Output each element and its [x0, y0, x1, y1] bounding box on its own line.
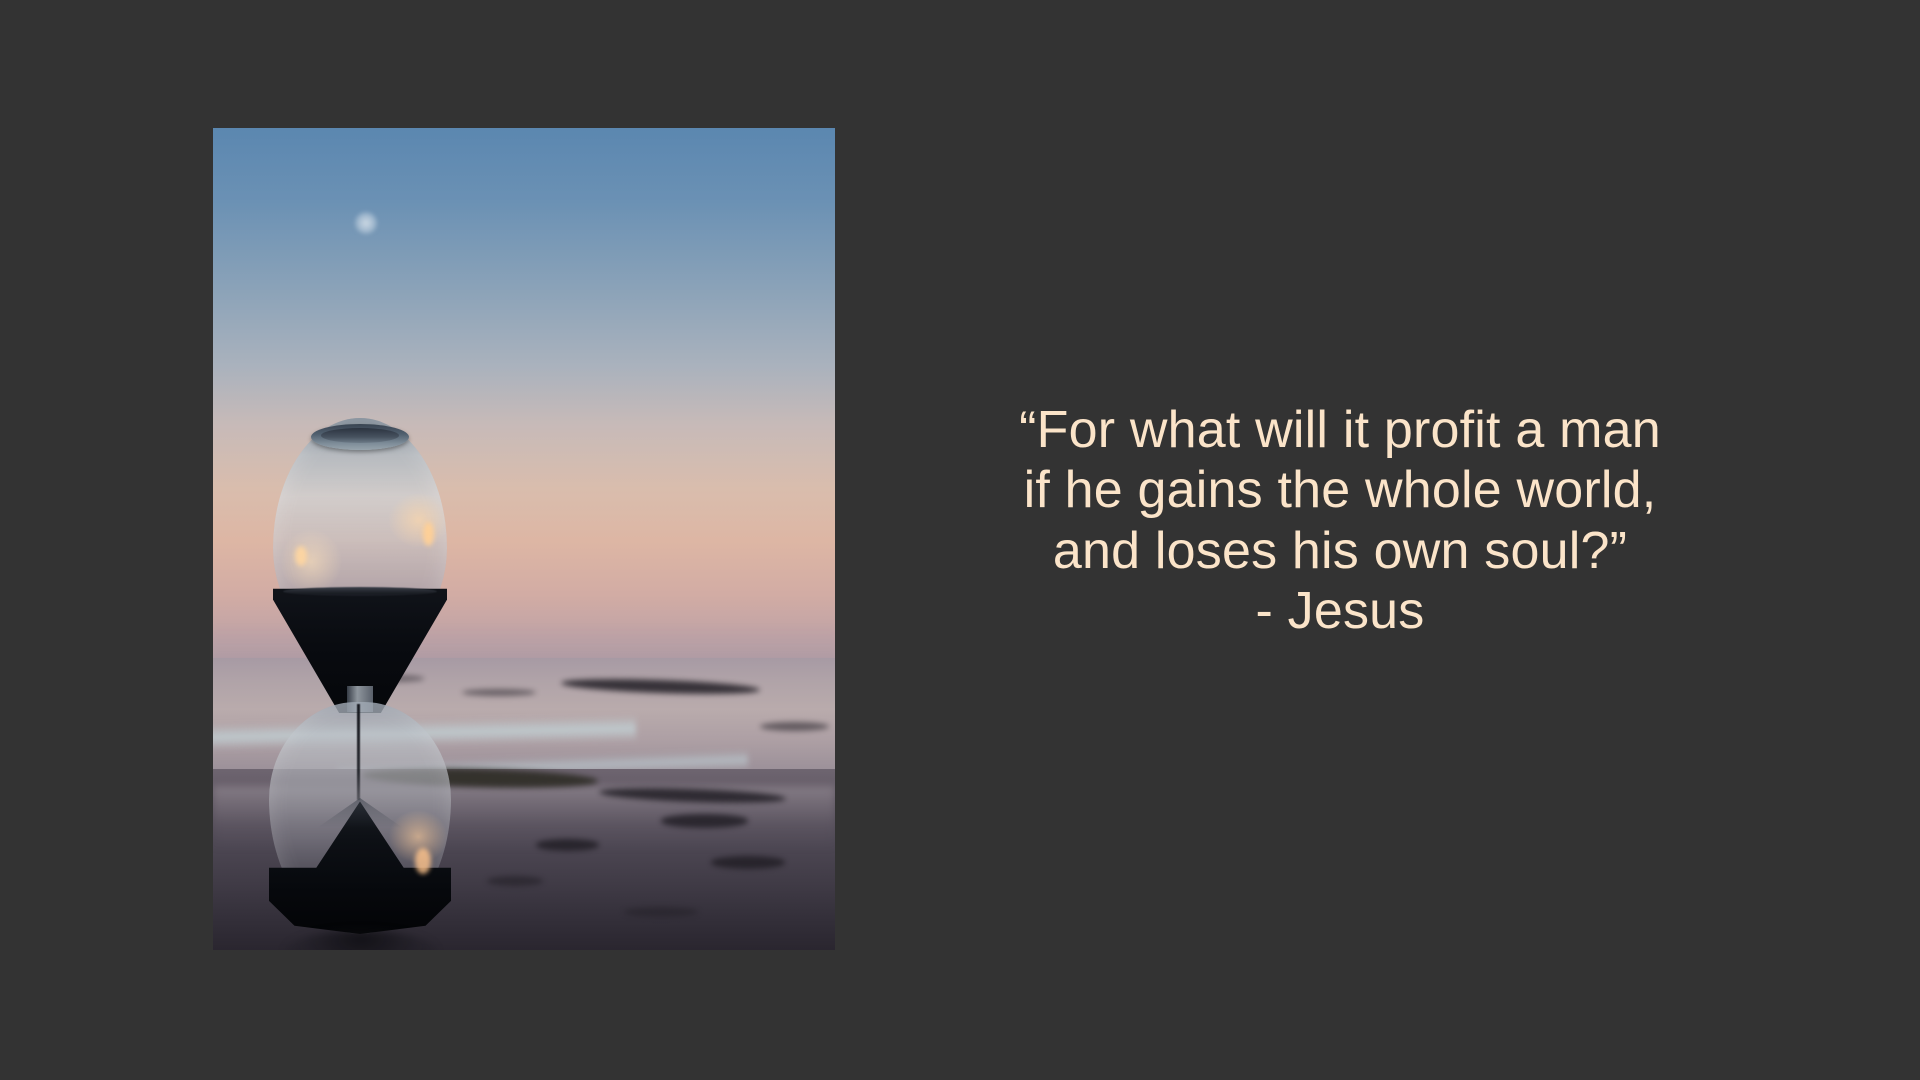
- quote-line-1: “For what will it profit a man: [900, 400, 1780, 460]
- hourglass-top-rim-inner: [321, 428, 399, 443]
- glass-glint: [295, 546, 307, 566]
- hourglass-top-sand-surface: [283, 587, 437, 596]
- hourglass-reflection: [285, 930, 437, 950]
- hourglass-sand-stream: [357, 704, 360, 800]
- beach-debris: [462, 689, 537, 696]
- quote-line-3: and loses his own soul?”: [900, 521, 1780, 581]
- glass-glint: [415, 848, 431, 874]
- beach-debris: [487, 876, 543, 886]
- moon-icon: [355, 212, 377, 234]
- quote-block: “For what will it profit a man if he gai…: [900, 400, 1780, 641]
- quote-line-2: if he gains the whole world,: [900, 460, 1780, 520]
- beach-debris: [661, 814, 748, 827]
- quote-slide: “For what will it profit a man if he gai…: [0, 0, 1920, 1080]
- quote-attribution: - Jesus: [900, 581, 1780, 641]
- glass-glint: [423, 522, 434, 546]
- beach-debris: [536, 839, 598, 851]
- beach-debris: [711, 856, 786, 868]
- hourglass-beach-photo: [213, 128, 835, 950]
- hourglass: [265, 418, 455, 938]
